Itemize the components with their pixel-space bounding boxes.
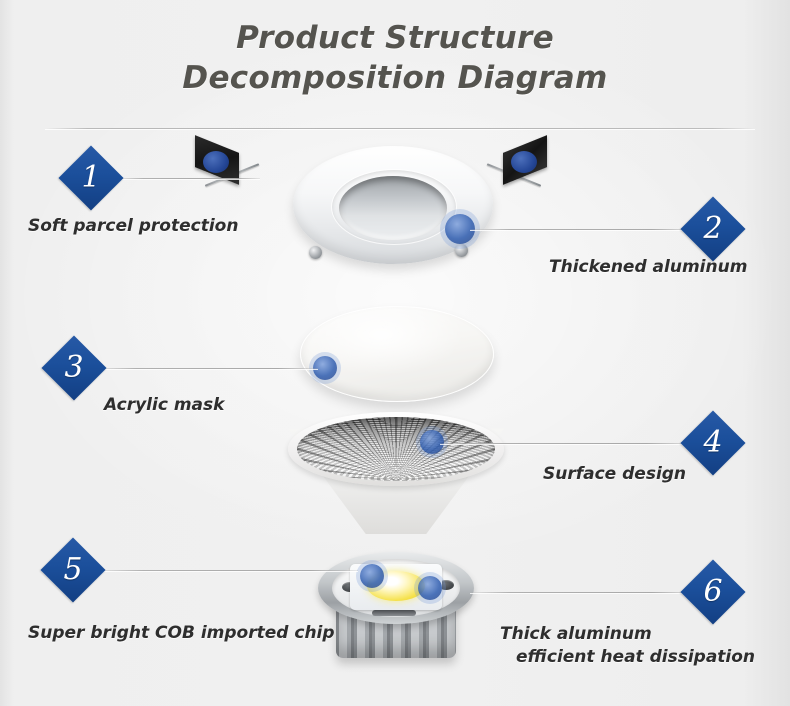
- spring-clip-left: [195, 140, 257, 196]
- reflector-cup-facets: [297, 417, 495, 481]
- callout-label-4: Surface design: [543, 463, 686, 486]
- callout-label-2: Thickened aluminum: [549, 256, 747, 279]
- callout-badge-6[interactable]: 6: [690, 569, 736, 615]
- spring-clip-right: [489, 140, 551, 196]
- reflector-cup-marker-dot: [420, 430, 444, 454]
- callout-badge-3[interactable]: 3: [51, 345, 97, 391]
- leader-line-2: [470, 229, 692, 230]
- callout-label-1: Soft parcel protection: [28, 215, 238, 238]
- callout-number-1: 1: [68, 155, 114, 201]
- callout-number-5: 5: [50, 547, 96, 593]
- part-reflector-cup: [288, 412, 504, 536]
- leader-line-4: [440, 443, 692, 444]
- part-acrylic-mask: [300, 306, 494, 402]
- part-housing-ring: [243, 138, 543, 288]
- callout-badge-1[interactable]: 1: [68, 155, 114, 201]
- housing-ring-inner-lip: [331, 169, 457, 245]
- part-cob-chip-module: [312, 546, 480, 666]
- callout-label-6-line-2: efficient heat dissipation: [500, 646, 755, 669]
- callout-label-3: Acrylic mask: [104, 394, 224, 417]
- leader-line-3: [96, 368, 318, 369]
- callout-number-4: 4: [690, 420, 736, 466]
- callout-number-3: 3: [51, 345, 97, 391]
- product-structure-diagram: Product Structure Decomposition Diagram: [0, 0, 790, 706]
- cob-solder-pad: [372, 610, 416, 616]
- page-title: Product Structure Decomposition Diagram: [0, 18, 790, 98]
- leader-line-1: [118, 178, 260, 179]
- callout-number-2: 2: [690, 206, 736, 252]
- callout-number-6: 6: [690, 569, 736, 615]
- leader-line-6: [470, 592, 692, 593]
- spring-clip-right-marker-dot: [511, 151, 537, 173]
- leader-line-5: [96, 570, 358, 571]
- callout-label-6-line-1: Thick aluminum: [500, 624, 652, 644]
- title-divider: [45, 128, 755, 129]
- callout-label-6: Thick aluminum efficient heat dissipatio…: [500, 623, 755, 669]
- callout-badge-2[interactable]: 2: [690, 206, 736, 252]
- callout-badge-4[interactable]: 4: [690, 420, 736, 466]
- callout-label-5: Super bright COB imported chip: [28, 622, 335, 645]
- callout-badge-5[interactable]: 5: [50, 547, 96, 593]
- cob-marker-dot-left: [360, 564, 384, 588]
- reflector-cup-bowl: [297, 417, 495, 481]
- spring-clip-left-marker-dot: [203, 151, 229, 173]
- title-line-1: Product Structure: [236, 20, 554, 56]
- cob-marker-dot-right: [418, 576, 442, 600]
- housing-screw-left: [309, 246, 322, 259]
- title-line-2: Decomposition Diagram: [0, 58, 790, 98]
- housing-screw-right: [455, 244, 468, 257]
